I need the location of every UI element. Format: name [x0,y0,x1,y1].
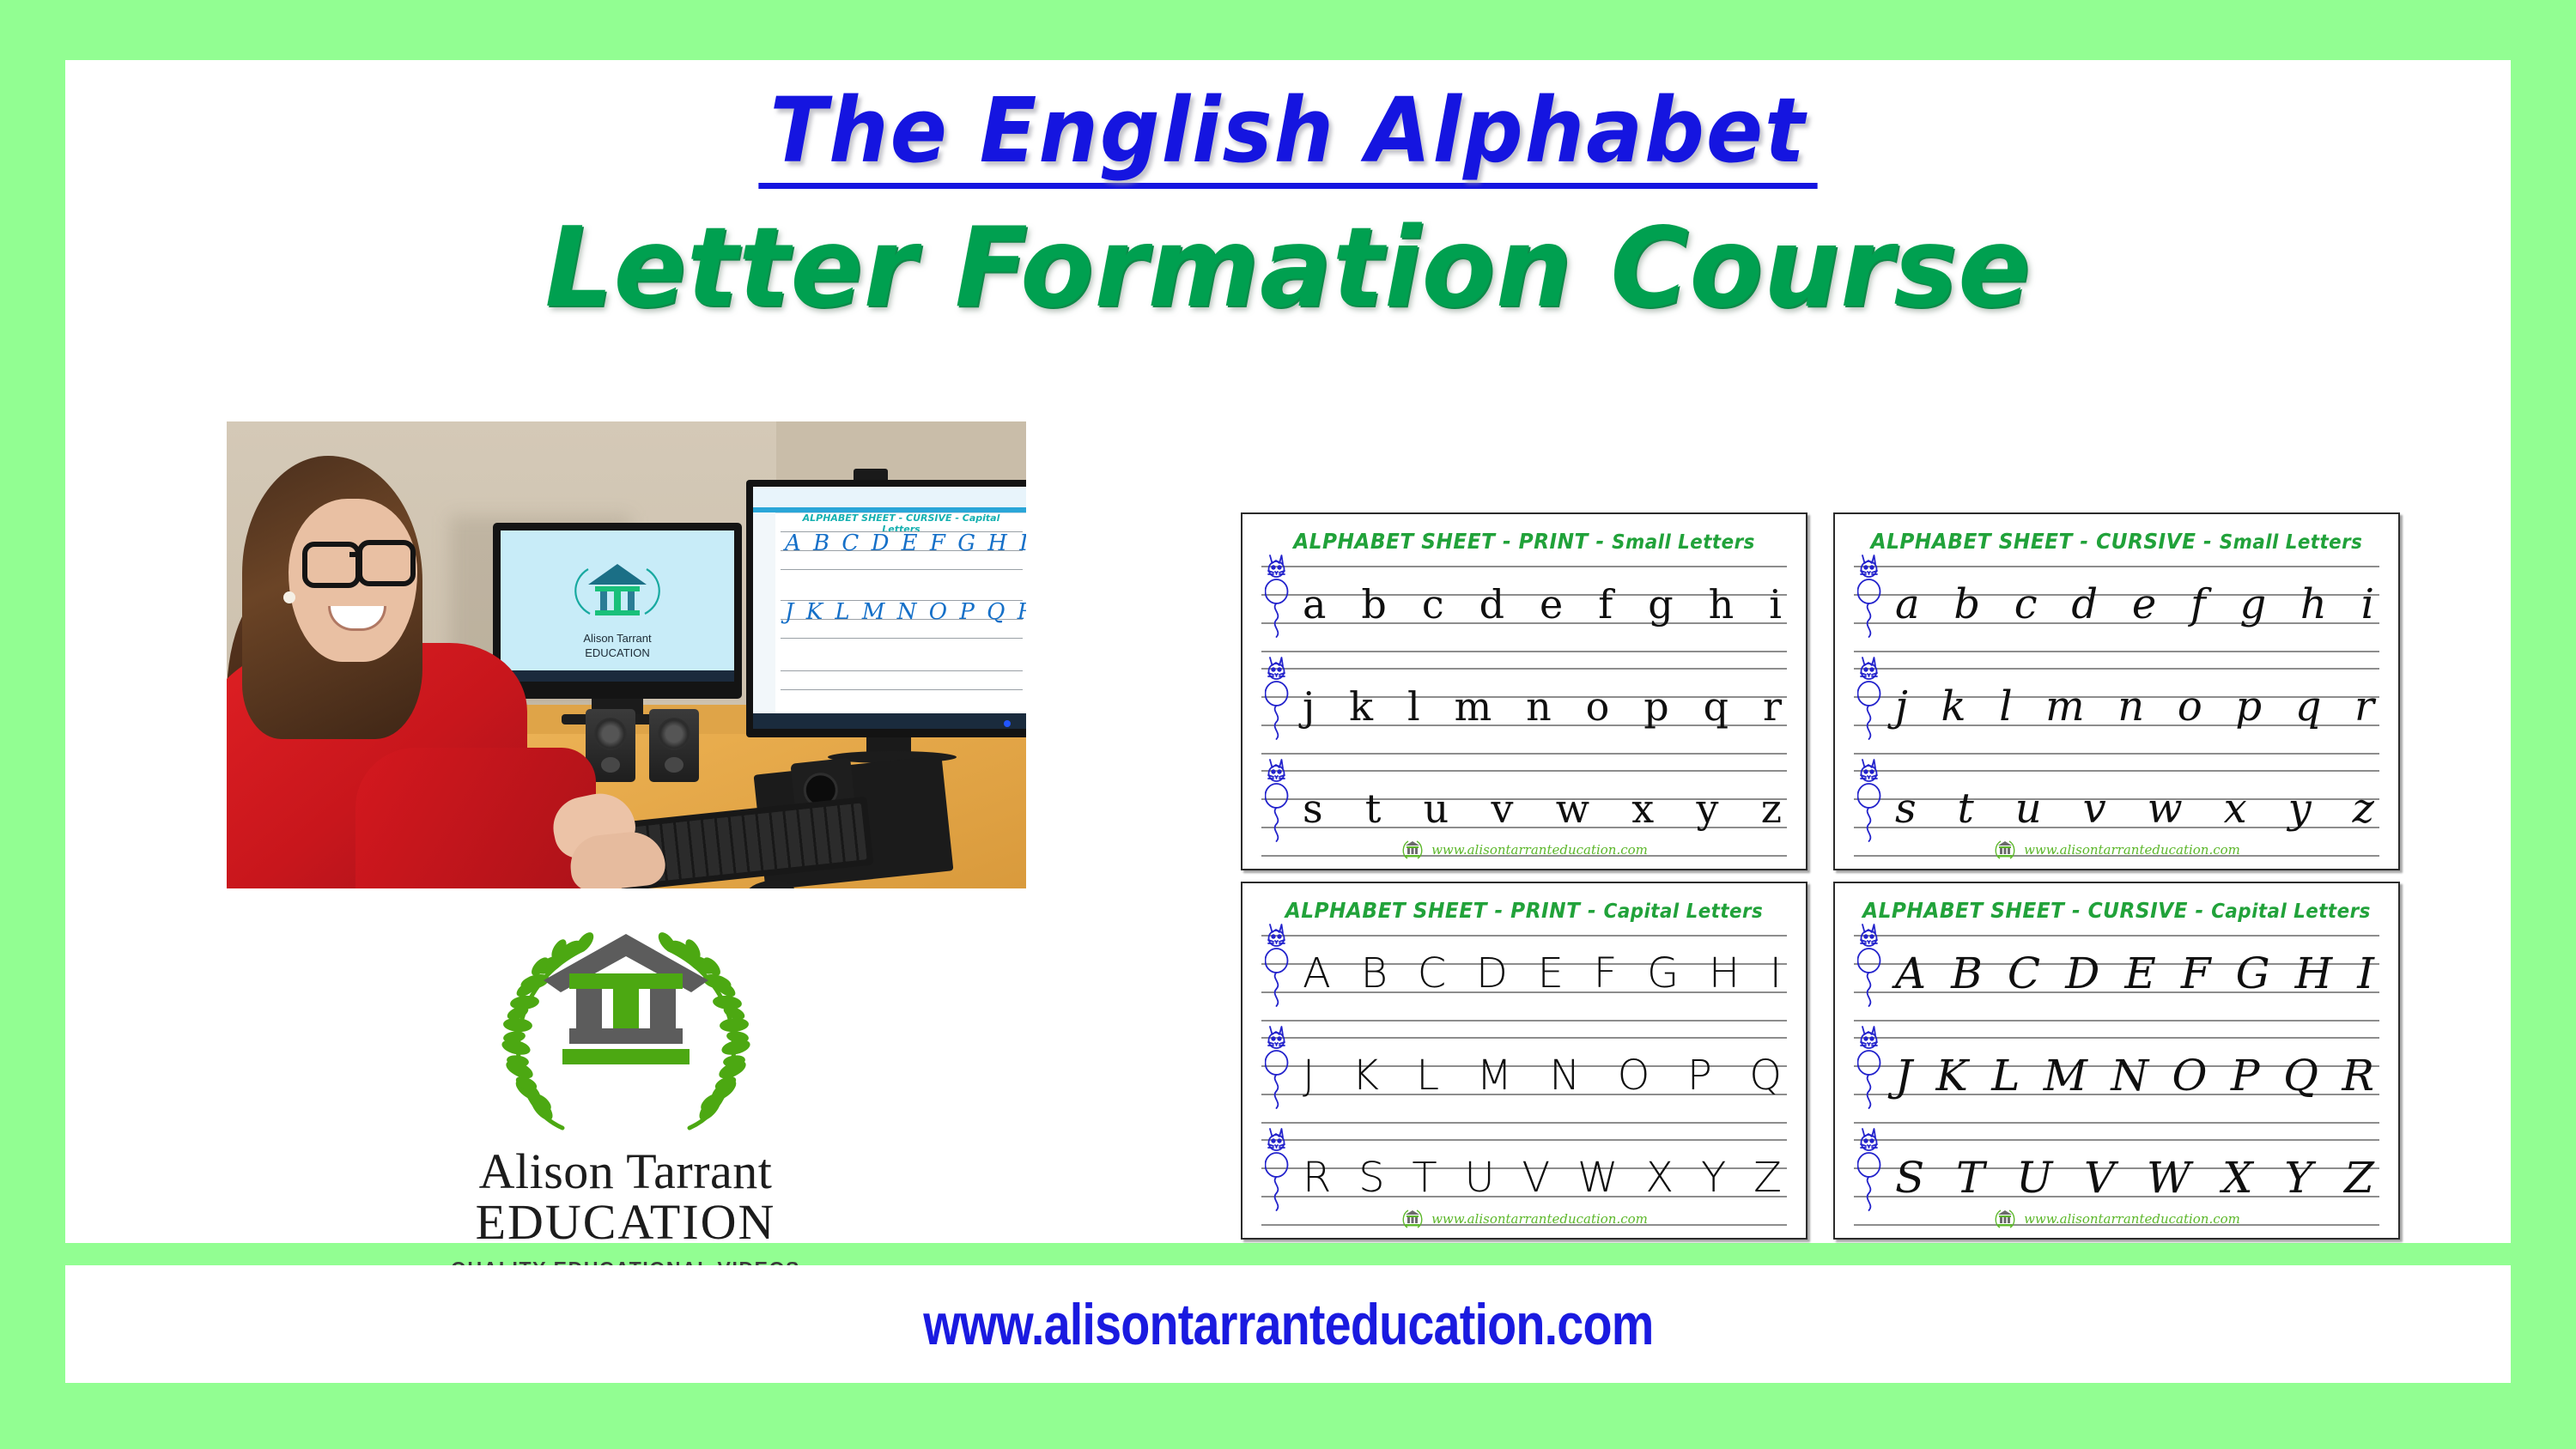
letter-glyph: h [1709,581,1735,627]
letter-glyph: E [1538,949,1564,997]
letter-glyph: V [1522,1154,1550,1202]
handwriting-row: jklmnopqr [1854,668,2379,760]
letter-glyph: V [2084,1153,2115,1203]
sheet-footer: www.alisontarranteducation.com [1242,1208,1806,1230]
guide-line [1854,753,2379,755]
letter-glyph: A [1303,949,1331,997]
alphabet-sheet-print-capital[interactable]: ALPHABET SHEET - PRINT - Capital Letters… [1241,882,1807,1240]
letter-glyph: O [1618,1052,1650,1100]
letter-glyph: d [1479,581,1504,627]
rows-host: ABCDEFGHIJKLMNOPQRSTUVWXYZ [1835,935,2398,1231]
handwriting-row: JKLMNOPQ [1261,1037,1787,1129]
letter-glyph: S [1358,1154,1384,1202]
letter-sequence: abcdefghi [1895,560,2374,649]
instructor-photo: Alison Tarrant EDUCATION ALPHABET SHEET … [227,421,1026,888]
letter-glyph: p [2235,682,2262,731]
photo-screen-rule [781,670,1023,671]
letter-glyph: p [1643,683,1668,730]
letter-glyph: O [2172,1051,2208,1100]
photo-screen-rule [781,569,1023,570]
letter-glyph: J [1895,1051,1912,1100]
photo-screen-row2: J K L M N O P Q R [785,599,1026,625]
letter-glyph: e [1540,581,1563,627]
alphabet-sheet-print-small[interactable]: ALPHABET SHEET - PRINT - Small Letters a… [1241,512,1807,870]
sheet-footer-url: www.alisontarranteducation.com [2024,1211,2240,1227]
letter-glyph: i [1769,581,1782,627]
letter-glyph: Z [2344,1153,2374,1203]
mini-logo-icon [1400,839,1425,861]
guide-line [1261,1122,1787,1124]
photo-monitor-right-taskbar [753,713,1026,729]
letter-glyph: C [1418,949,1447,997]
cat-icon [1857,1023,1883,1119]
guide-line [1854,1122,2379,1124]
photo-monitor-led [1004,720,1011,727]
sheet-title-suffix: Small Letters [2220,531,2363,554]
letter-glyph: A [1895,949,1926,998]
letter-glyph: u [2015,785,2042,833]
handwriting-row: jklmnopqr [1261,668,1787,760]
speaker-tweeter [665,757,683,773]
letter-glyph: c [2014,580,2038,628]
letter-glyph: t [1365,785,1382,832]
cat-icon [1857,921,1883,1017]
letter-glyph: F [2181,949,2211,998]
photo-person-glasses-right [357,540,416,586]
letter-glyph: l [1999,682,2012,731]
letter-glyph: a [1303,581,1326,627]
letter-glyph: f [1598,581,1613,627]
letter-sequence: JKLMNOPQR [1895,1031,2374,1120]
website-url: www.alisontarranteducation.com [923,1291,1653,1358]
letter-sequence: jklmnopqr [1303,662,1782,751]
photo-app-sidebar [753,512,775,729]
speaker-cone [594,718,627,750]
letter-glyph: o [2178,682,2202,731]
title-block: The English Alphabet Letter Formation Co… [65,60,2511,327]
sheet-title: ALPHABET SHEET - CURSIVE - Capital Lette… [1855,898,2379,923]
cat-icon [1857,552,1883,648]
letter-glyph: e [2132,580,2156,628]
letter-glyph: n [1526,683,1552,730]
alphabet-sheet-cursive-small[interactable]: ALPHABET SHEET - CURSIVE - Small Letters… [1833,512,2400,870]
sheet-title-suffix: Small Letters [1612,531,1755,554]
sheet-title-suffix: Capital Letters [1604,900,1764,923]
photo-person-earring [283,591,295,603]
cat-icon [1265,921,1291,1017]
letter-glyph: N [2111,1051,2148,1100]
letter-glyph: o [1586,683,1610,730]
photo-brand-line2: EDUCATION [510,646,725,661]
letter-glyph: z [2353,785,2374,833]
letter-glyph: D [2065,949,2099,998]
brand-name: Alison Tarrant [409,1147,842,1197]
letter-glyph: k [1349,683,1373,730]
letter-sequence: abcdefghi [1303,560,1782,649]
letter-glyph: y [1696,785,1718,832]
letter-glyph: z [1761,785,1782,832]
photo-person-glasses-bridge [349,552,360,557]
rows-host: ABCDEFGHIJKLMNOPQRSTUVWXYZ [1242,935,1806,1231]
letter-glyph: Q [2283,1051,2318,1100]
letter-glyph: a [1895,580,1920,628]
letter-glyph: J [1303,1052,1315,1100]
letter-glyph: s [1895,785,1917,833]
photo-brand-line1: Alison Tarrant [510,632,725,646]
letter-glyph: D [1476,949,1508,997]
letter-glyph: N [1549,1052,1580,1100]
photo-monitor-left-taskbar [501,670,734,682]
letter-glyph: Y [1701,1154,1726,1202]
sheet-footer-url: www.alisontarranteducation.com [1431,842,1648,858]
letter-glyph: v [2083,785,2106,833]
letter-glyph: f [2190,580,2206,628]
sheet-title: ALPHABET SHEET - CURSIVE - Small Letters [1855,529,2379,554]
photo-screen-rule [781,638,1023,639]
letter-glyph: Z [1753,1154,1782,1202]
letter-glyph: q [1704,683,1728,730]
letter-glyph: X [2222,1153,2253,1203]
speaker-tweeter [601,757,620,773]
rows-host: abcdefghijklmnopqrstuvwxyz [1242,566,1806,862]
letter-glyph: m [1455,683,1492,730]
letter-glyph: v [1491,785,1513,832]
letter-glyph: r [2354,682,2374,731]
photo-person-glasses-left [302,542,361,588]
letter-glyph: I [2357,949,2374,998]
main-panel: The English Alphabet Letter Formation Co… [65,60,2511,1243]
photo-screen-row1: A B C D E F G H I [785,530,1026,556]
handwriting-row: abcdefghi [1261,566,1787,658]
letter-glyph: I [1770,949,1782,997]
handwriting-row: ABCDEFGHI [1854,935,2379,1027]
letter-glyph: K [1352,1052,1379,1100]
letter-glyph: x [1631,785,1654,832]
sheet-title-prefix: ALPHABET SHEET - PRINT - [1285,898,1604,923]
sheet-footer: www.alisontarranteducation.com [1835,1208,2398,1230]
alphabet-sheet-cursive-capital[interactable]: ALPHABET SHEET - CURSIVE - Capital Lette… [1833,882,2400,1240]
letter-glyph: U [2016,1153,2052,1203]
letter-glyph: b [1361,581,1386,627]
letter-glyph: t [1958,785,1974,833]
rows-host: abcdefghijklmnopqrstuvwxyz [1835,566,2398,862]
letter-glyph: H [2295,949,2333,998]
cat-icon [1857,654,1883,750]
letter-glyph: L [1416,1052,1439,1100]
letter-glyph: T [1956,1153,1984,1203]
letter-glyph: X [1645,1154,1674,1202]
letter-glyph: P [1687,1052,1712,1100]
sheet-title-prefix: ALPHABET SHEET - CURSIVE - [1862,898,2211,923]
photo-speaker-right [649,709,699,782]
letter-glyph: h [2300,580,2327,628]
speaker-cone [658,718,690,750]
letter-glyph: T [1412,1154,1437,1202]
letter-glyph: F [1594,949,1618,997]
letter-glyph: L [1991,1051,2020,1100]
guide-line [1854,1020,2379,1022]
mini-logo-icon [1993,1208,2017,1230]
sheet-title-suffix: Capital Letters [2211,900,2371,923]
letter-glyph: E [2124,949,2156,998]
sheet-footer: www.alisontarranteducation.com [1835,839,2398,861]
letter-glyph: x [2224,785,2247,833]
letter-glyph: W [2147,1153,2190,1203]
letter-glyph: q [2295,682,2322,731]
guide-line [1261,1020,1787,1022]
letter-glyph: U [1465,1154,1495,1202]
letter-glyph: M [2044,1051,2087,1100]
sheet-footer: www.alisontarranteducation.com [1242,839,1806,861]
letter-glyph: w [2148,785,2183,833]
letter-glyph: s [1303,785,1323,832]
guide-line [1261,651,1787,652]
letter-glyph: n [2117,682,2144,731]
letter-glyph: i [2361,580,2374,628]
cat-icon [1265,1023,1291,1119]
letter-glyph: K [1935,1051,1967,1100]
photo-screen-rule [781,689,1023,690]
letter-glyph: m [2045,682,2085,731]
letter-glyph: R [2342,1051,2374,1100]
website-url-bar[interactable]: www.alisontarranteducation.com [65,1265,2511,1383]
sheet-title-prefix: ALPHABET SHEET - CURSIVE - [1871,529,2220,554]
letter-glyph: r [1763,683,1782,730]
photo-monitor-left-caption: Alison Tarrant EDUCATION [510,632,725,661]
letter-glyph: G [1647,949,1679,997]
sheet-footer-url: www.alisontarranteducation.com [1431,1211,1648,1227]
letter-glyph: k [1941,682,1966,731]
letter-glyph: y [2288,785,2312,833]
poster-root: The English Alphabet Letter Formation Co… [0,0,2576,1449]
letter-glyph: w [1556,785,1589,832]
brand-subtitle: EDUCATION [409,1197,842,1249]
letter-glyph: g [1648,581,1673,627]
letter-glyph: d [2071,580,2098,628]
guide-line [1261,753,1787,755]
handwriting-row: abcdefghi [1854,566,2379,658]
letter-glyph: H [1709,949,1740,997]
letter-glyph: B [1361,949,1388,997]
cat-icon [1265,654,1291,750]
letter-glyph: l [1407,683,1420,730]
letter-glyph: R [1303,1154,1331,1202]
page-subtitle: Letter Formation Course [102,211,2475,326]
sheet-title: ALPHABET SHEET - PRINT - Small Letters [1262,529,1786,554]
letter-glyph: S [1895,1153,1924,1203]
letter-glyph: j [1303,683,1315,730]
logo-mark [480,927,772,1142]
letter-glyph: W [1577,1154,1618,1202]
guide-line [1854,651,2379,652]
photo-monitor-left-logo [557,550,677,629]
sheet-footer-url: www.alisontarranteducation.com [2024,842,2240,858]
mini-logo-icon [1993,839,2017,861]
letter-sequence: ABCDEFGHI [1895,929,2374,1018]
letter-glyph: G [2236,949,2270,998]
letter-glyph: g [2239,580,2266,628]
letter-sequence: JKLMNOPQ [1303,1031,1782,1120]
letter-glyph: j [1895,682,1908,731]
letter-glyph: P [2231,1051,2260,1100]
letter-sequence: ABCDEFGHI [1303,929,1782,1018]
page-title: The English Alphabet [758,84,1817,189]
letter-glyph: u [1424,785,1449,832]
letter-glyph: M [1477,1052,1512,1100]
cat-icon [1265,552,1291,648]
mini-logo-icon [1400,1208,1425,1230]
brand-logo-block: Alison Tarrant EDUCATION QUALITY EDUCATI… [409,927,842,1270]
handwriting-row: JKLMNOPQR [1854,1037,2379,1129]
letter-glyph: B [1951,949,1983,998]
letter-glyph: C [2008,949,2040,998]
letter-glyph: c [1422,581,1444,627]
sheet-title: ALPHABET SHEET - PRINT - Capital Letters [1262,898,1786,923]
letter-sequence: jklmnopqr [1895,662,2374,751]
letter-glyph: b [1953,580,1980,628]
handwriting-row: ABCDEFGHI [1261,935,1787,1027]
letter-glyph: Q [1749,1052,1782,1100]
sheet-title-prefix: ALPHABET SHEET - PRINT - [1293,529,1612,554]
letter-glyph: Y [2284,1153,2312,1203]
